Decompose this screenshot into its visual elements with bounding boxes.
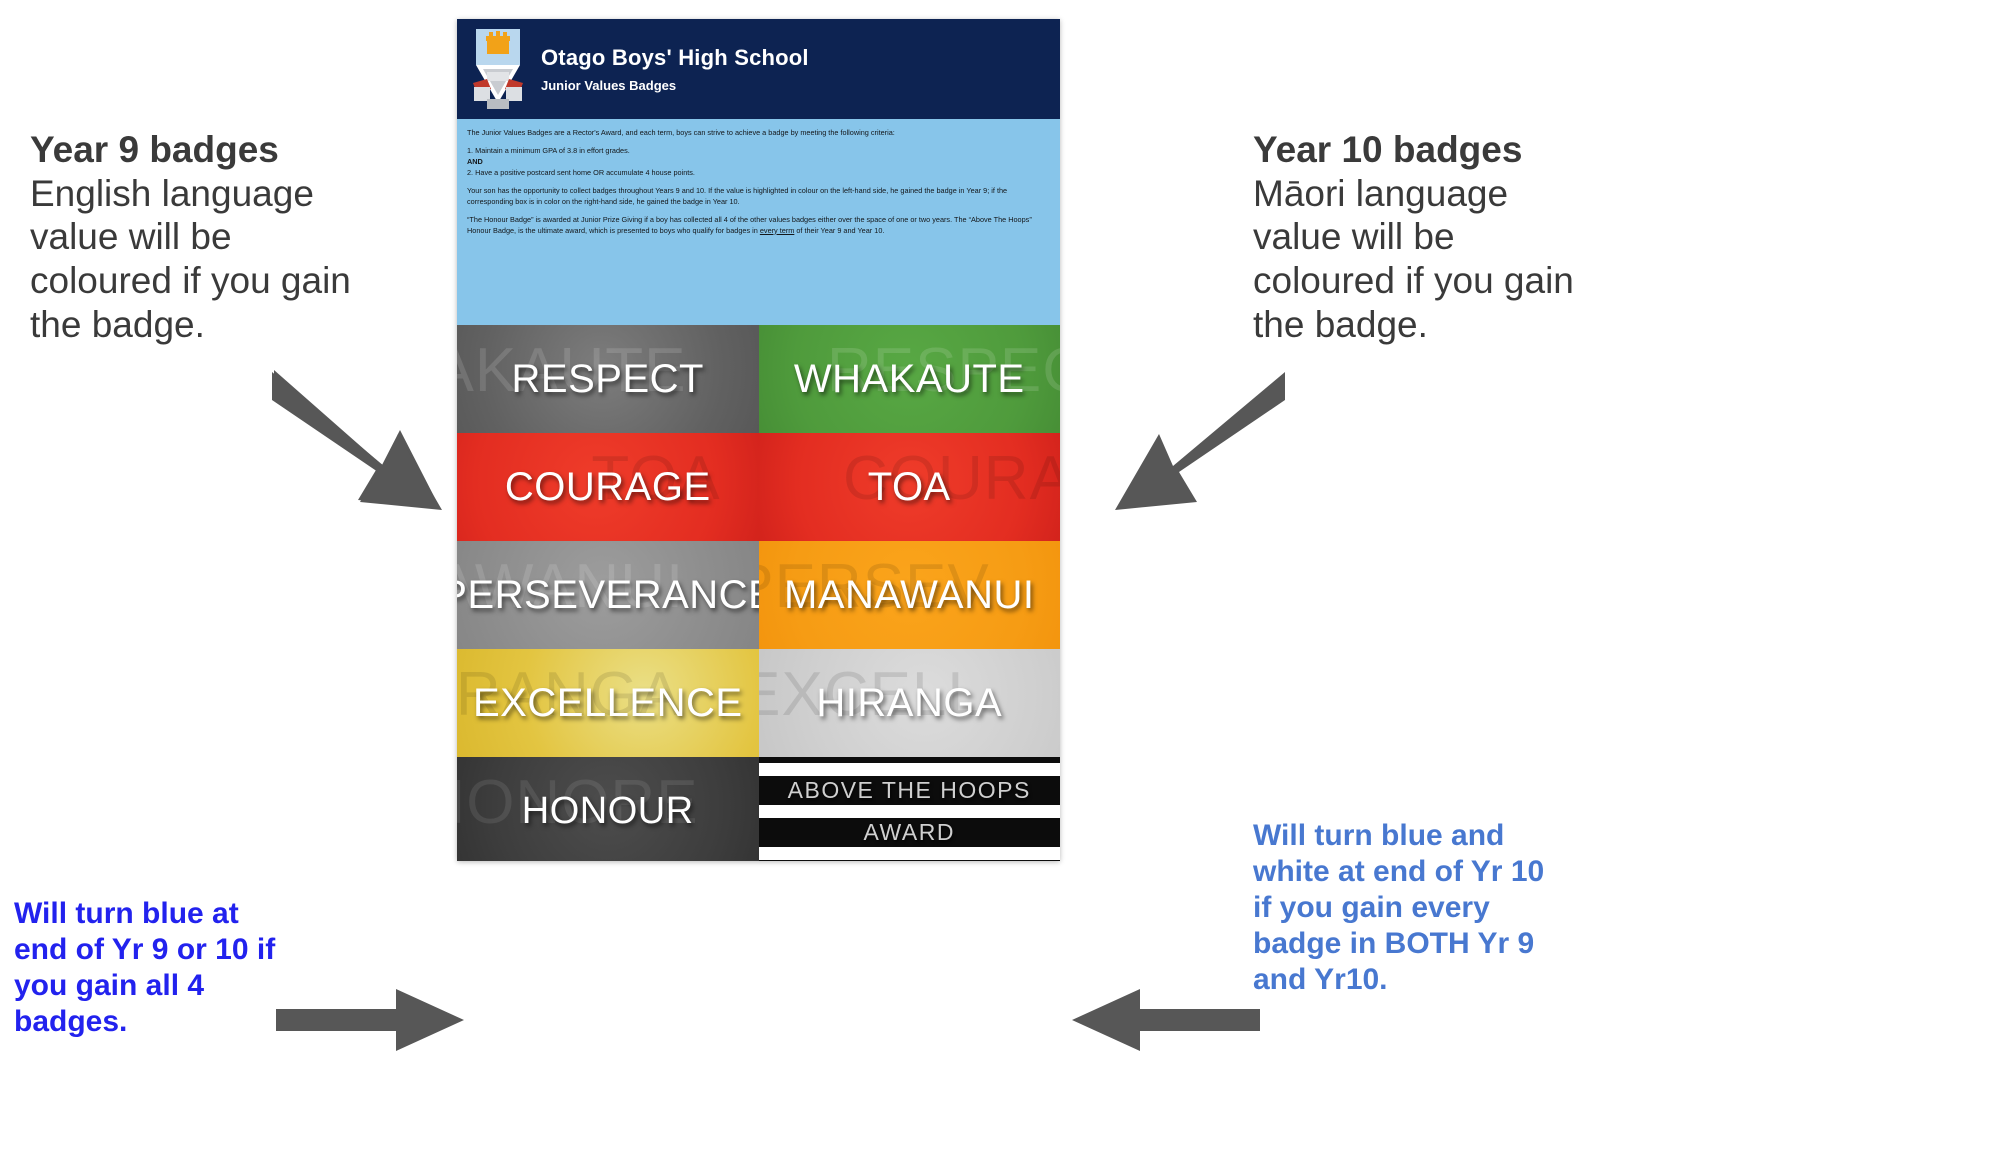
annotation-year10-lead: Year 10 badges [1253,128,1583,172]
badge-grid: AKAUTE RESPECT RESPEC WHAKAUTE TOA COURA… [457,325,1060,861]
info-paragraph-2: Your son has the opportunity to collect … [467,186,1050,208]
annotation-year10-body: Māori language value will be coloured if… [1253,173,1574,345]
school-crest-icon [469,27,527,111]
annotation-blue-left: Will turn blue at end of Yr 9 or 10 if y… [14,896,284,1040]
arrow-year10-to-grid-icon [1085,360,1285,520]
badge-cell-excellence[interactable]: IRANGA EXCELLENCE [457,649,759,757]
poster-header: Otago Boys' High School Junior Values Ba… [457,19,1060,119]
arrow-blue-right-to-hoops-icon [1070,985,1260,1055]
badge-label-courage: COURAGE [505,465,711,510]
annotation-year9-lead: Year 9 badges [30,128,360,172]
poster-info-text: The Junior Values Badges are a Rector's … [457,119,1060,325]
badge-label-perseverance: PERSEVERANCE [457,573,759,618]
annotation-year9-body: English language value will be coloured … [30,173,351,345]
poster-header-text: Otago Boys' High School Junior Values Ba… [541,45,809,93]
annotation-year10: Year 10 badges Māori language value will… [1253,128,1583,346]
info-and-label: AND [467,157,483,166]
badge-label-respect: RESPECT [512,357,704,402]
info-criteria-1: 1. Maintain a minimum GPA of 3.8 in effo… [467,146,1050,157]
badge-cell-courage[interactable]: TOA COURAGE [457,433,759,541]
above-the-hoops-badge: ABOVE THE HOOPS AWARD [759,763,1061,860]
arrow-blue-left-to-honour-icon [276,985,466,1055]
info-criteria-and: AND [467,157,1050,168]
badge-label-manawanui: MANAWANUI [784,573,1034,618]
badge-label-toa: TOA [868,465,951,510]
info-criteria-2: 2. Have a positive postcard sent home OR… [467,168,1050,179]
hoops-stripe-bottom [759,847,1061,860]
badge-label-hiranga: HIRANGA [816,681,1002,726]
annotation-blue-right: Will turn blue and white at end of Yr 10… [1253,818,1553,998]
badge-label-whakaute: WHAKAUTE [794,357,1025,402]
badge-label-honour: HONOUR [522,790,694,833]
badge-cell-respect[interactable]: AKAUTE RESPECT [457,325,759,433]
badge-cell-honour[interactable]: HONORE HONOUR [457,757,759,861]
hoops-stripe-top [759,763,1061,776]
badge-cell-perseverance[interactable]: AWANUI PERSEVERANCE [457,541,759,649]
badge-cell-hiranga[interactable]: EXCELL HIRANGA [759,649,1061,757]
school-name: Otago Boys' High School [541,45,809,71]
hoops-stripe-middle [759,805,1061,818]
badge-cell-whakaute[interactable]: RESPEC WHAKAUTE [759,325,1061,433]
info-intro: The Junior Values Badges are a Rector's … [467,128,1050,139]
badge-label-excellence: EXCELLENCE [473,681,743,726]
hoops-label-line-1: ABOVE THE HOOPS [759,776,1061,805]
badge-cell-above-the-hoops[interactable]: ABOVE THE HOOPS AWARD [759,757,1061,861]
badge-cell-toa[interactable]: COURA TOA [759,433,1061,541]
screenshot-root: Year 9 badges English language value wil… [0,0,2000,1149]
badge-cell-manawanui[interactable]: PERSEV MANAWANUI [759,541,1061,649]
info-paragraph-3: “The Honour Badge” is awarded at Junior … [467,215,1050,237]
poster-subtitle: Junior Values Badges [541,78,809,93]
arrow-year9-to-grid-icon [272,360,472,520]
hoops-label-line-2: AWARD [759,818,1061,847]
annotation-year9: Year 9 badges English language value wil… [30,128,360,346]
values-badges-poster: Otago Boys' High School Junior Values Ba… [457,19,1060,861]
info-p3-b: of their Year 9 and Year 10. [794,226,884,235]
info-p3-underline: every term [760,226,794,235]
info-p3-a: “The Honour Badge” is awarded at Junior … [467,215,1032,235]
